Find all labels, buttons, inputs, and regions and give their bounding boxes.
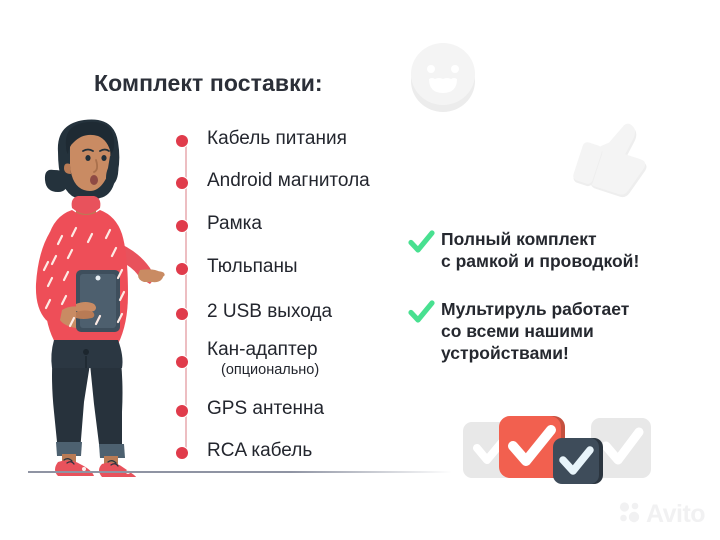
ground-line — [28, 471, 452, 473]
avito-watermark: Avito — [618, 500, 705, 529]
list-item: Кабель питания — [176, 128, 347, 150]
bullet-dot-icon — [176, 447, 188, 459]
checkbox-cards-icon — [463, 414, 653, 499]
list-item-label: 2 USB выхода — [207, 301, 332, 323]
list-item-note: (опционально) — [221, 362, 319, 379]
list-item-label: Android магнитола — [207, 170, 370, 192]
check-mark-icon — [408, 299, 435, 326]
bullet-dot-icon — [176, 308, 188, 320]
benefit-item: Полный комплект с рамкой и проводкой! — [408, 228, 639, 272]
list-item: Рамка — [176, 213, 262, 235]
benefit-line-2: с рамкой и проводкой! — [441, 251, 639, 271]
list-item: Тюльпаны — [176, 256, 298, 278]
benefit-line-1: Полный комплект — [441, 229, 597, 249]
benefit-line-2: со всеми нашими — [441, 321, 594, 341]
list-item: 2 USB выхода — [176, 301, 332, 323]
benefit-line-3: устройствами! — [441, 343, 569, 363]
avito-dots-icon — [618, 500, 642, 529]
list-item: Android магнитола — [176, 170, 370, 192]
list-item-label: RCA кабель — [207, 440, 312, 462]
woman-pointing-illustration — [14, 112, 174, 482]
benefit-item: Мультируль работает со всеми нашими устр… — [408, 298, 629, 365]
list-item: RCA кабель — [176, 440, 312, 462]
bullet-dot-icon — [176, 263, 188, 275]
benefit-line-1: Мультируль работает — [441, 299, 629, 319]
bullet-dot-icon — [176, 177, 188, 189]
list-item-label: Кабель питания — [207, 128, 347, 150]
bullet-dot-icon — [176, 405, 188, 417]
list-item-label: Тюльпаны — [207, 256, 298, 278]
bullet-dot-icon — [176, 356, 188, 368]
avito-wordmark: Avito — [646, 502, 705, 527]
list-item-label-main: Кан-адаптер — [207, 339, 318, 360]
list-item-label: GPS антенна — [207, 398, 324, 420]
list-item: Кан-адаптер (опционально) — [176, 339, 319, 379]
benefit-text: Полный комплект с рамкой и проводкой! — [441, 228, 639, 272]
list-item-label: Рамка — [207, 213, 262, 235]
page-title: Комплект поставки: — [94, 70, 323, 97]
list-item: GPS антенна — [176, 398, 324, 420]
bullet-dot-icon — [176, 135, 188, 147]
bullet-dot-icon — [176, 220, 188, 232]
product-info-graphic: Комплект поставки: — [0, 0, 720, 540]
thumbs-up-icon — [573, 114, 661, 211]
check-mark-icon — [408, 229, 435, 256]
smiley-face-icon — [409, 41, 477, 118]
benefit-text: Мультируль работает со всеми нашими устр… — [441, 298, 629, 365]
list-item-label: Кан-адаптер (опционально) — [207, 339, 319, 379]
